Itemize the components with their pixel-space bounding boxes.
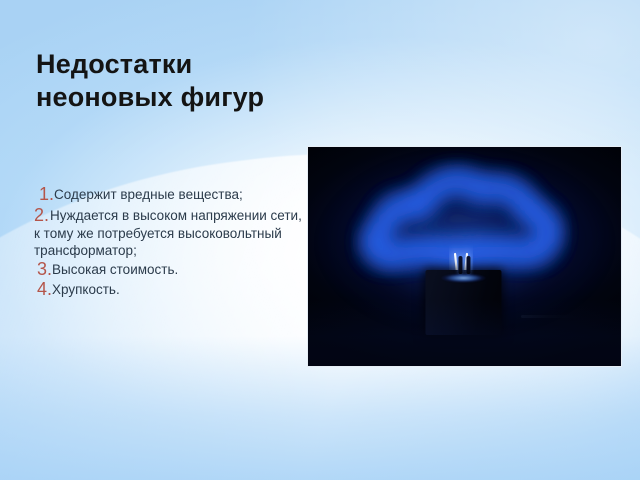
list-item: 2.Нуждается в высоком напряжении сети, к… xyxy=(34,206,302,260)
list-item-text: Высокая стоимость. xyxy=(52,261,302,279)
list-item-text: Хрупкость. xyxy=(52,281,302,299)
list-item: 1. Содержит вредные вещества; xyxy=(34,186,302,205)
disadvantages-list: 1. Содержит вредные вещества; 2.Нуждаетс… xyxy=(34,186,302,301)
list-item-number: 3. xyxy=(37,260,53,279)
lamp-electrode-pin xyxy=(467,256,471,274)
neon-cloud-photo xyxy=(307,146,622,367)
list-item-number: 1. xyxy=(39,185,55,204)
list-item-text: Нуждается в высоком напряжении сети, к т… xyxy=(34,208,302,258)
list-item-text: Содержит вредные вещества; xyxy=(54,186,302,204)
list-item: 4. Хрупкость. xyxy=(34,281,302,300)
slide: Недостатки неоновых фигур 1. Содержит вр… xyxy=(0,0,640,480)
list-item: 3. Высокая стоимость. xyxy=(34,261,302,280)
lamp-plate xyxy=(440,273,486,283)
lamp-electrode-pin xyxy=(458,256,462,274)
list-item-number: 2. xyxy=(34,205,50,225)
photo-floor-sheen xyxy=(308,300,621,366)
page-title: Недостатки неоновых фигур xyxy=(36,48,304,115)
list-item-number: 4. xyxy=(37,280,53,299)
